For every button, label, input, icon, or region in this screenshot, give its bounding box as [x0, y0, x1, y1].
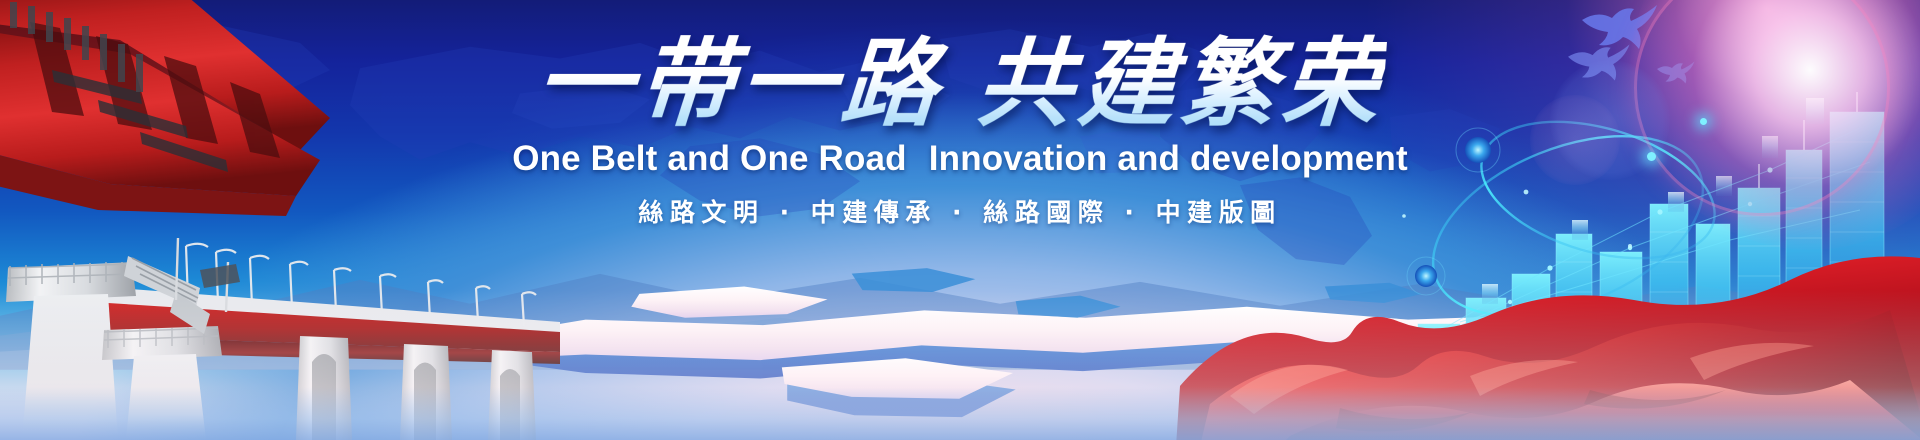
banner-copy: 一带一路共建繁荣 One Belt and One RoadInnovation…: [0, 0, 1920, 440]
subtitle-en-part2: Innovation and development: [929, 139, 1408, 178]
subtitle-english: One Belt and One RoadInnovation and deve…: [512, 139, 1408, 179]
subtitle-chinese: 絲路文明 · 中建傳承 · 絲路國際 · 中建版圖: [638, 193, 1281, 229]
page-title: 一带一路共建繁荣: [532, 34, 1387, 135]
title-cn-part2: 共建繁荣: [973, 27, 1388, 140]
subtitle-en-part1: One Belt and One Road: [512, 139, 907, 178]
belt-and-road-banner: 一带一路共建繁荣 One Belt and One RoadInnovation…: [0, 0, 1920, 440]
title-cn-part1: 一带一路: [532, 27, 947, 140]
